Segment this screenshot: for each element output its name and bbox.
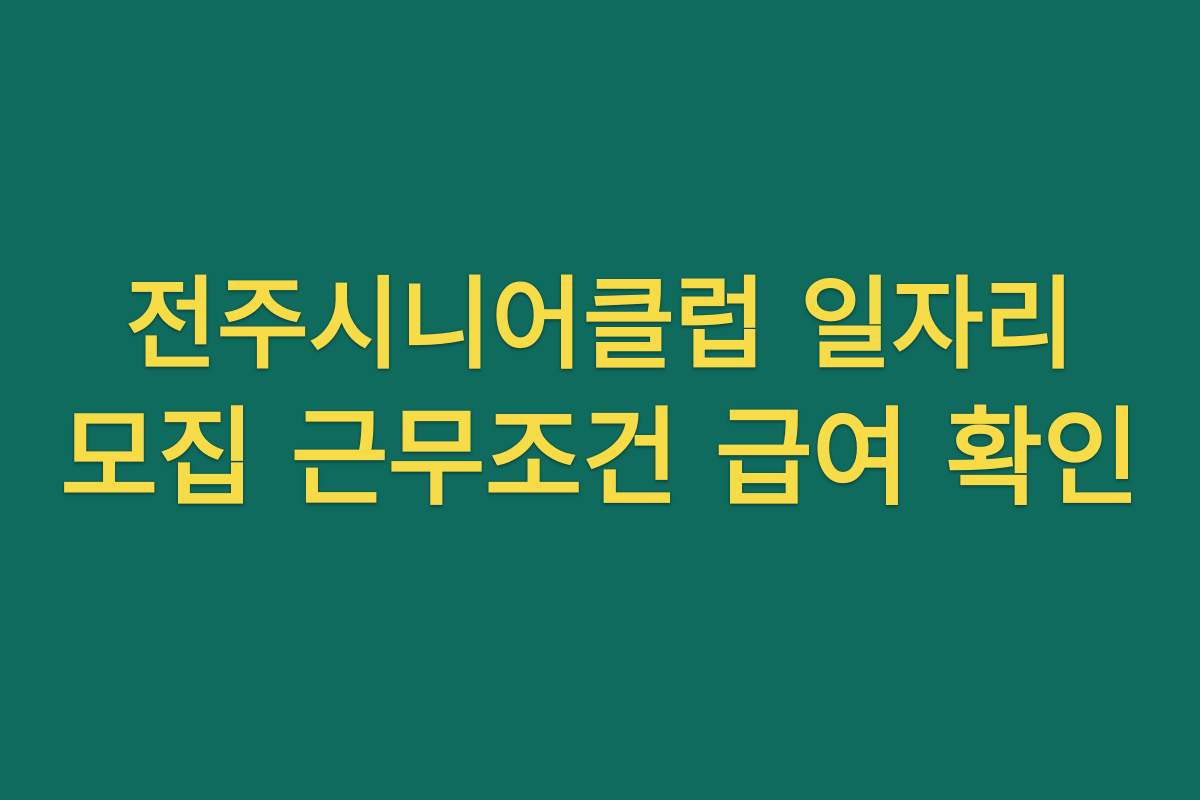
headline-block: 전주시니어클럽 일자리 모집 근무조건 급여 확인 bbox=[0, 260, 1200, 528]
headline-line-2: 모집 근무조건 급여 확인 bbox=[0, 390, 1200, 528]
banner-canvas: 전주시니어클럽 일자리 모집 근무조건 급여 확인 bbox=[0, 0, 1200, 800]
headline-line-1: 전주시니어클럽 일자리 bbox=[0, 260, 1200, 390]
